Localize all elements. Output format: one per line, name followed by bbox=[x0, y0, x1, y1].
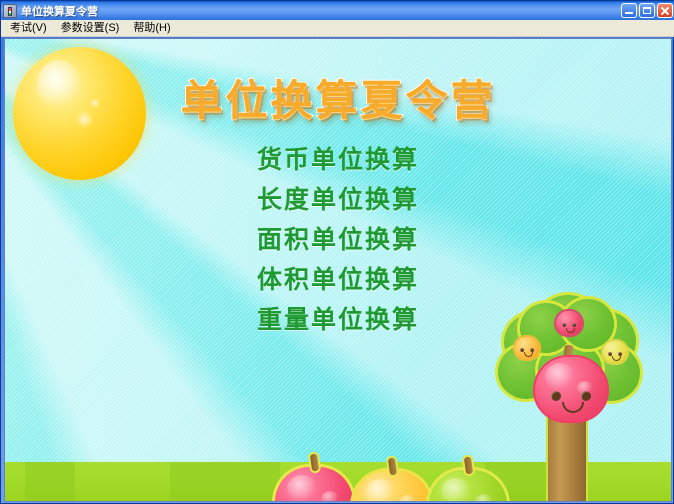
menu-option-currency[interactable]: 货币单位换算 bbox=[253, 144, 423, 176]
apple-highlight bbox=[545, 363, 575, 389]
mouth bbox=[524, 352, 533, 357]
apple-highlight bbox=[321, 491, 339, 502]
maximize-button[interactable] bbox=[639, 3, 655, 18]
mouth bbox=[562, 402, 584, 413]
app-icon bbox=[3, 4, 17, 18]
menu-option-weight[interactable]: 重量单位换算 bbox=[253, 304, 423, 336]
mini-apple-orange bbox=[515, 337, 539, 359]
apple-highlight bbox=[287, 475, 317, 501]
mini-apple-red bbox=[556, 311, 582, 335]
minimize-button[interactable] bbox=[621, 3, 637, 18]
grass-band bbox=[25, 462, 75, 501]
menu-item-help[interactable]: 帮助(H) bbox=[126, 20, 177, 36]
eye bbox=[581, 391, 591, 401]
apple-highlight bbox=[441, 478, 471, 502]
menu-option-area[interactable]: 面积单位换算 bbox=[253, 224, 423, 256]
eye bbox=[572, 323, 576, 327]
window-controls bbox=[621, 3, 673, 18]
window-title: 单位换算夏令营 bbox=[21, 3, 98, 19]
page-title: 单位换算夏令营 bbox=[5, 67, 671, 128]
close-button[interactable] bbox=[657, 3, 673, 18]
eye bbox=[551, 391, 561, 401]
client-area: 单位换算夏令营 货币单位换算 长度单位换算 面积单位换算 体积单位换算 重量单位… bbox=[4, 38, 672, 502]
apple-highlight bbox=[399, 495, 417, 502]
mini-apple-yellow bbox=[603, 341, 627, 363]
tree-apple-face bbox=[533, 355, 609, 423]
eye bbox=[562, 323, 566, 327]
menu-option-length[interactable]: 长度单位换算 bbox=[253, 184, 423, 216]
menu-bar: 考试(V) 参数设置(S) 帮助(H) bbox=[1, 20, 674, 37]
menu-option-volume[interactable]: 体积单位换算 bbox=[253, 264, 423, 296]
mouth bbox=[612, 356, 621, 361]
menu-item-settings[interactable]: 参数设置(S) bbox=[54, 20, 127, 36]
apple-highlight bbox=[365, 479, 395, 502]
grass-band bbox=[170, 462, 280, 501]
application-window: 单位换算夏令营 考试(V) 参数设置(S) 帮助(H) 单位换算夏令营 bbox=[0, 0, 674, 504]
menu-item-exam[interactable]: 考试(V) bbox=[3, 20, 54, 36]
mouth bbox=[566, 328, 575, 333]
apple-highlight bbox=[475, 494, 493, 502]
apple-tree-icon bbox=[500, 297, 660, 502]
title-bar: 单位换算夏令营 bbox=[1, 1, 674, 20]
